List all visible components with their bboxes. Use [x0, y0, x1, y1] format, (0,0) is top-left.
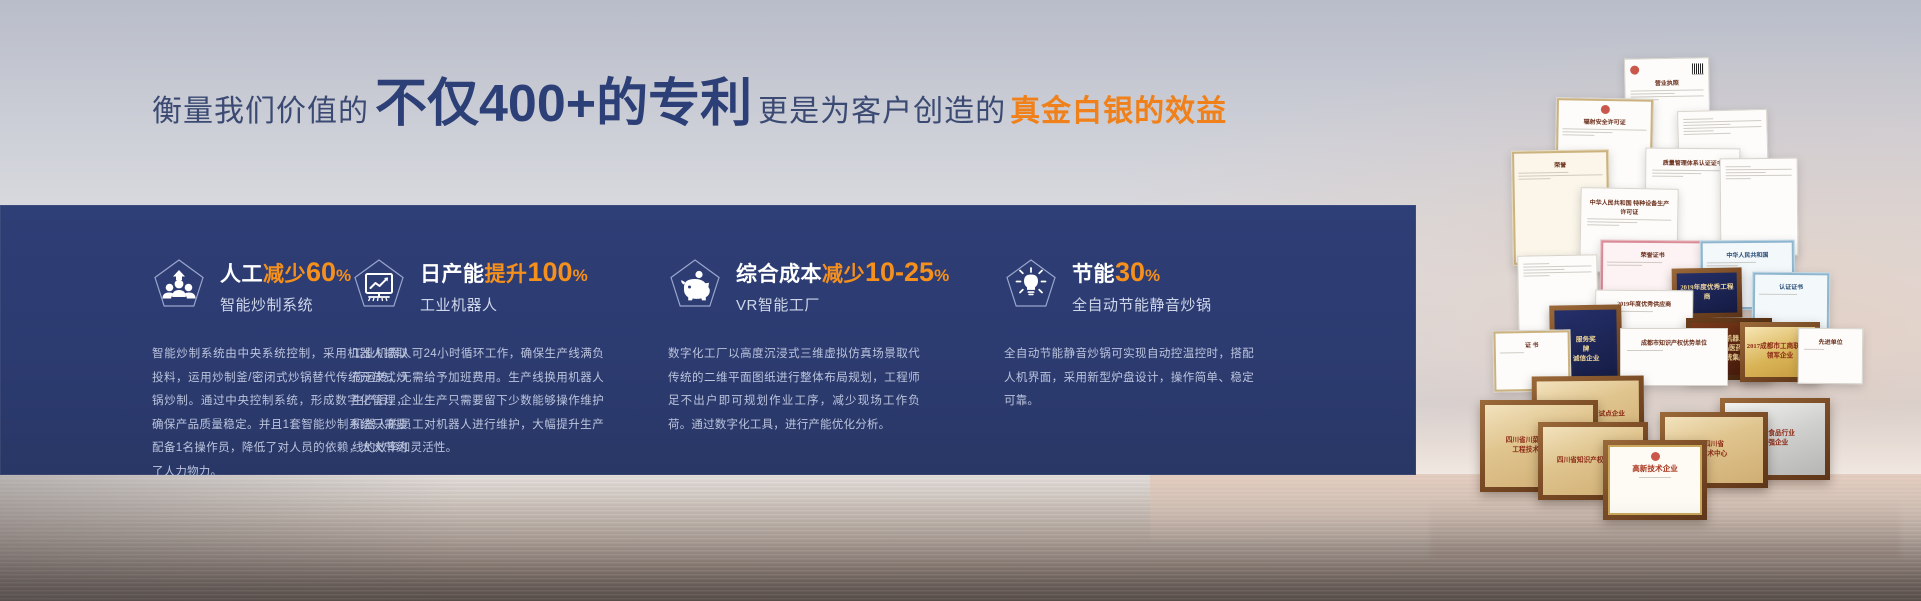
feature-body-2: 工业机器人可24小时循环工作，确保生产线满负荷运转，无需给予加班费用。生产线换用…	[352, 343, 604, 461]
feature-title-prefix: 日产能	[420, 263, 485, 286]
banner-stage: 衡量我们价值的 不仅400+的专利 更是为客户创造的 真金白银的效益	[0, 0, 1921, 601]
feature-title-2: 日产能提升100%	[420, 257, 588, 287]
piggy-bank-icon	[668, 257, 722, 311]
feature-title-number: 10-25	[865, 257, 934, 287]
certificate-wall: 营业执照 辐射安全许可证 荣誉 质	[1400, 40, 1921, 540]
feature-title-prefix: 综合成本	[736, 263, 822, 286]
feature-title-unit: %	[934, 266, 950, 285]
feature-item-3: 综合成本减少10-25% VR智能工厂 数字化工厂以高度沉浸式三维虚拟仿真场景取…	[668, 205, 1004, 475]
certificate-reflection	[1430, 498, 1900, 558]
feature-item-1: 人工减少60% 智能炒制系统 智能炒制系统由中央系统控制，采用机器人抓取投料，运…	[0, 205, 352, 475]
feature-title-accent: 提升	[485, 263, 528, 286]
water-shadow-left	[0, 474, 460, 601]
feature-title-unit: %	[573, 266, 589, 285]
feature-item-4: 节能30% 全自动节能静音炒锅 全自动节能静音炒锅可实现自动控温控时，搭配人机界…	[1004, 205, 1344, 475]
feature-title-number: 100	[528, 257, 573, 287]
feature-subtitle-4: 全自动节能静音炒锅	[1072, 294, 1212, 315]
certificate-paper: 先进单位	[1798, 328, 1863, 385]
feature-title-prefix: 节能	[1072, 263, 1115, 286]
feature-title-4: 节能30%	[1072, 257, 1212, 287]
feature-title-unit: %	[336, 266, 352, 285]
lightbulb-icon	[1004, 257, 1058, 311]
feature-title-3: 综合成本减少10-25%	[736, 257, 950, 287]
feature-title-number: 60	[306, 257, 336, 287]
chart-board-icon	[352, 257, 406, 311]
headline-prefix: 衡量我们价值的	[152, 86, 369, 130]
headline-emphasis: 不仅400+的专利	[375, 78, 752, 130]
headline-suffix: 真金白银的效益	[1010, 86, 1227, 130]
headline: 衡量我们价值的 不仅400+的专利 更是为客户创造的 真金白银的效益	[152, 78, 1332, 140]
feature-title-accent: 减少	[822, 263, 865, 286]
feature-title-1: 人工减少60%	[220, 257, 352, 287]
feature-title-prefix: 人工	[220, 263, 263, 286]
feature-title-number: 30	[1115, 257, 1145, 287]
feature-subtitle-2: 工业机器人	[420, 294, 588, 315]
feature-body-3: 数字化工厂以高度沉浸式三维虚拟仿真场景取代传统的二维平面图纸进行整体布局规划，工…	[668, 343, 920, 437]
headline-middle: 更是为客户创造的	[758, 86, 1006, 130]
feature-title-accent: 减少	[263, 263, 306, 286]
feature-title-unit: %	[1145, 266, 1161, 285]
feature-body-4: 全自动节能静音炒锅可实现自动控温控时，搭配人机界面，采用新型炉盘设计，操作简单、…	[1004, 343, 1254, 414]
feature-subtitle-3: VR智能工厂	[736, 294, 950, 315]
feature-subtitle-1: 智能炒制系统	[220, 294, 352, 315]
feature-panel: 人工减少60% 智能炒制系统 智能炒制系统由中央系统控制，采用机器人抓取投料，运…	[0, 205, 1416, 475]
feature-item-2: 日产能提升100% 工业机器人 工业机器人可24小时循环工作，确保生产线满负荷运…	[352, 205, 668, 475]
people-group-icon	[152, 257, 206, 311]
